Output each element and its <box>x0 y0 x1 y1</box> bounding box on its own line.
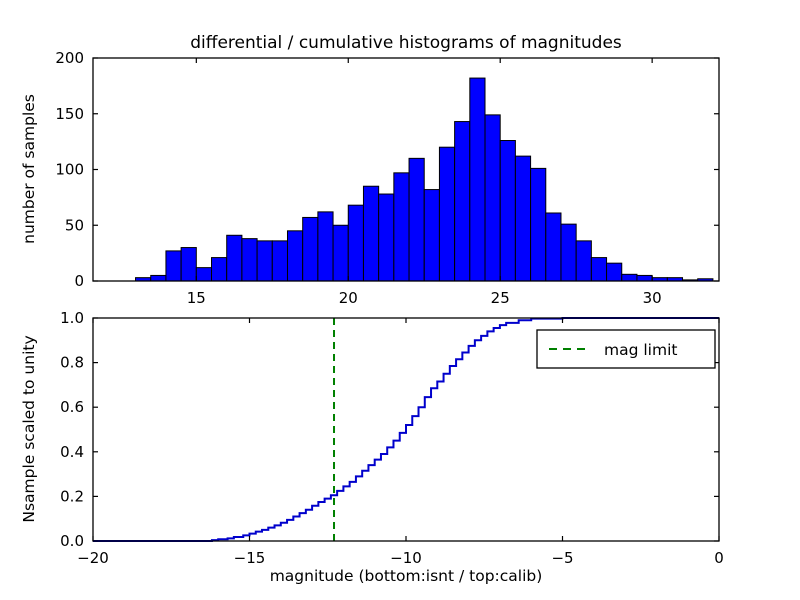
histogram-bar <box>622 274 637 281</box>
top-y-tick-label: 0 <box>74 272 84 290</box>
histogram-bar <box>151 275 166 281</box>
histogram-bar <box>363 186 378 281</box>
histogram-bar <box>470 78 485 281</box>
top-y-tick-label: 200 <box>55 49 84 67</box>
bottom-y-tick-label: 0.4 <box>60 443 84 461</box>
histogram-bar <box>607 263 622 281</box>
top-y-tick-label: 50 <box>65 216 84 234</box>
histogram-bar <box>379 194 394 281</box>
histogram-bar <box>439 147 454 281</box>
histogram-bar <box>531 168 546 281</box>
top-axes-differential-histogram: 15202530 050100150200 differential / cum… <box>20 33 719 307</box>
bottom-x-tick-label: 0 <box>714 549 724 567</box>
histogram-bar <box>576 241 591 281</box>
top-x-tick-label: 15 <box>187 289 206 307</box>
top-y-tick-label: 100 <box>55 161 84 179</box>
bottom-x-tick-label: −5 <box>551 549 573 567</box>
histogram-bar <box>546 213 561 281</box>
bottom-y-tick-label: 0.8 <box>60 354 84 372</box>
histogram-bar <box>257 241 272 281</box>
histogram-bar <box>318 212 333 281</box>
histogram-bar <box>455 122 470 281</box>
top-x-tick-label: 30 <box>643 289 662 307</box>
histogram-bar <box>394 173 409 281</box>
bottom-y-axis-label: Nsample scaled to unity <box>20 335 38 522</box>
histogram-bar <box>303 217 318 281</box>
top-x-tick-label: 25 <box>491 289 510 307</box>
figure-canvas: 15202530 050100150200 differential / cum… <box>0 0 800 600</box>
histogram-bar <box>409 158 424 281</box>
histogram-bar <box>348 205 363 281</box>
histogram-bar <box>196 268 211 281</box>
histogram-bar <box>591 258 606 281</box>
bottom-x-tick-label: −15 <box>234 549 266 567</box>
histogram-bar <box>227 235 242 281</box>
bottom-y-tick-label: 0.2 <box>60 487 84 505</box>
histogram-bar <box>424 190 439 281</box>
bottom-x-axis-label: magnitude (bottom:isnt / top:calib) <box>270 567 543 585</box>
chart-title: differential / cumulative histograms of … <box>190 33 622 53</box>
histogram-bar <box>242 239 257 281</box>
bottom-y-tick-label: 1.0 <box>60 309 84 327</box>
histogram-bar <box>272 241 287 281</box>
histogram-bar <box>561 224 576 281</box>
top-y-tick-label: 150 <box>55 105 84 123</box>
histogram-bar <box>500 141 515 281</box>
histogram-bar <box>212 258 227 281</box>
histogram-bar <box>515 156 530 281</box>
histogram-bar <box>637 275 652 281</box>
histogram-bar <box>333 225 348 281</box>
histogram-bar <box>166 251 181 281</box>
legend[interactable]: mag limit <box>537 330 715 368</box>
legend-label-mag-limit: mag limit <box>604 341 677 359</box>
bottom-y-tick-label: 0.6 <box>60 398 84 416</box>
bottom-y-tick-label: 0.0 <box>60 532 84 550</box>
histogram-bar <box>287 231 302 281</box>
histogram-bar <box>181 248 196 281</box>
bottom-x-tick-label: −10 <box>390 549 422 567</box>
bottom-x-tick-label: −20 <box>77 549 109 567</box>
top-y-axis-label: number of samples <box>20 94 38 244</box>
histogram-bar <box>485 115 500 281</box>
top-x-tick-label: 20 <box>339 289 358 307</box>
matplotlib-figure: 15202530 050100150200 differential / cum… <box>0 0 800 600</box>
